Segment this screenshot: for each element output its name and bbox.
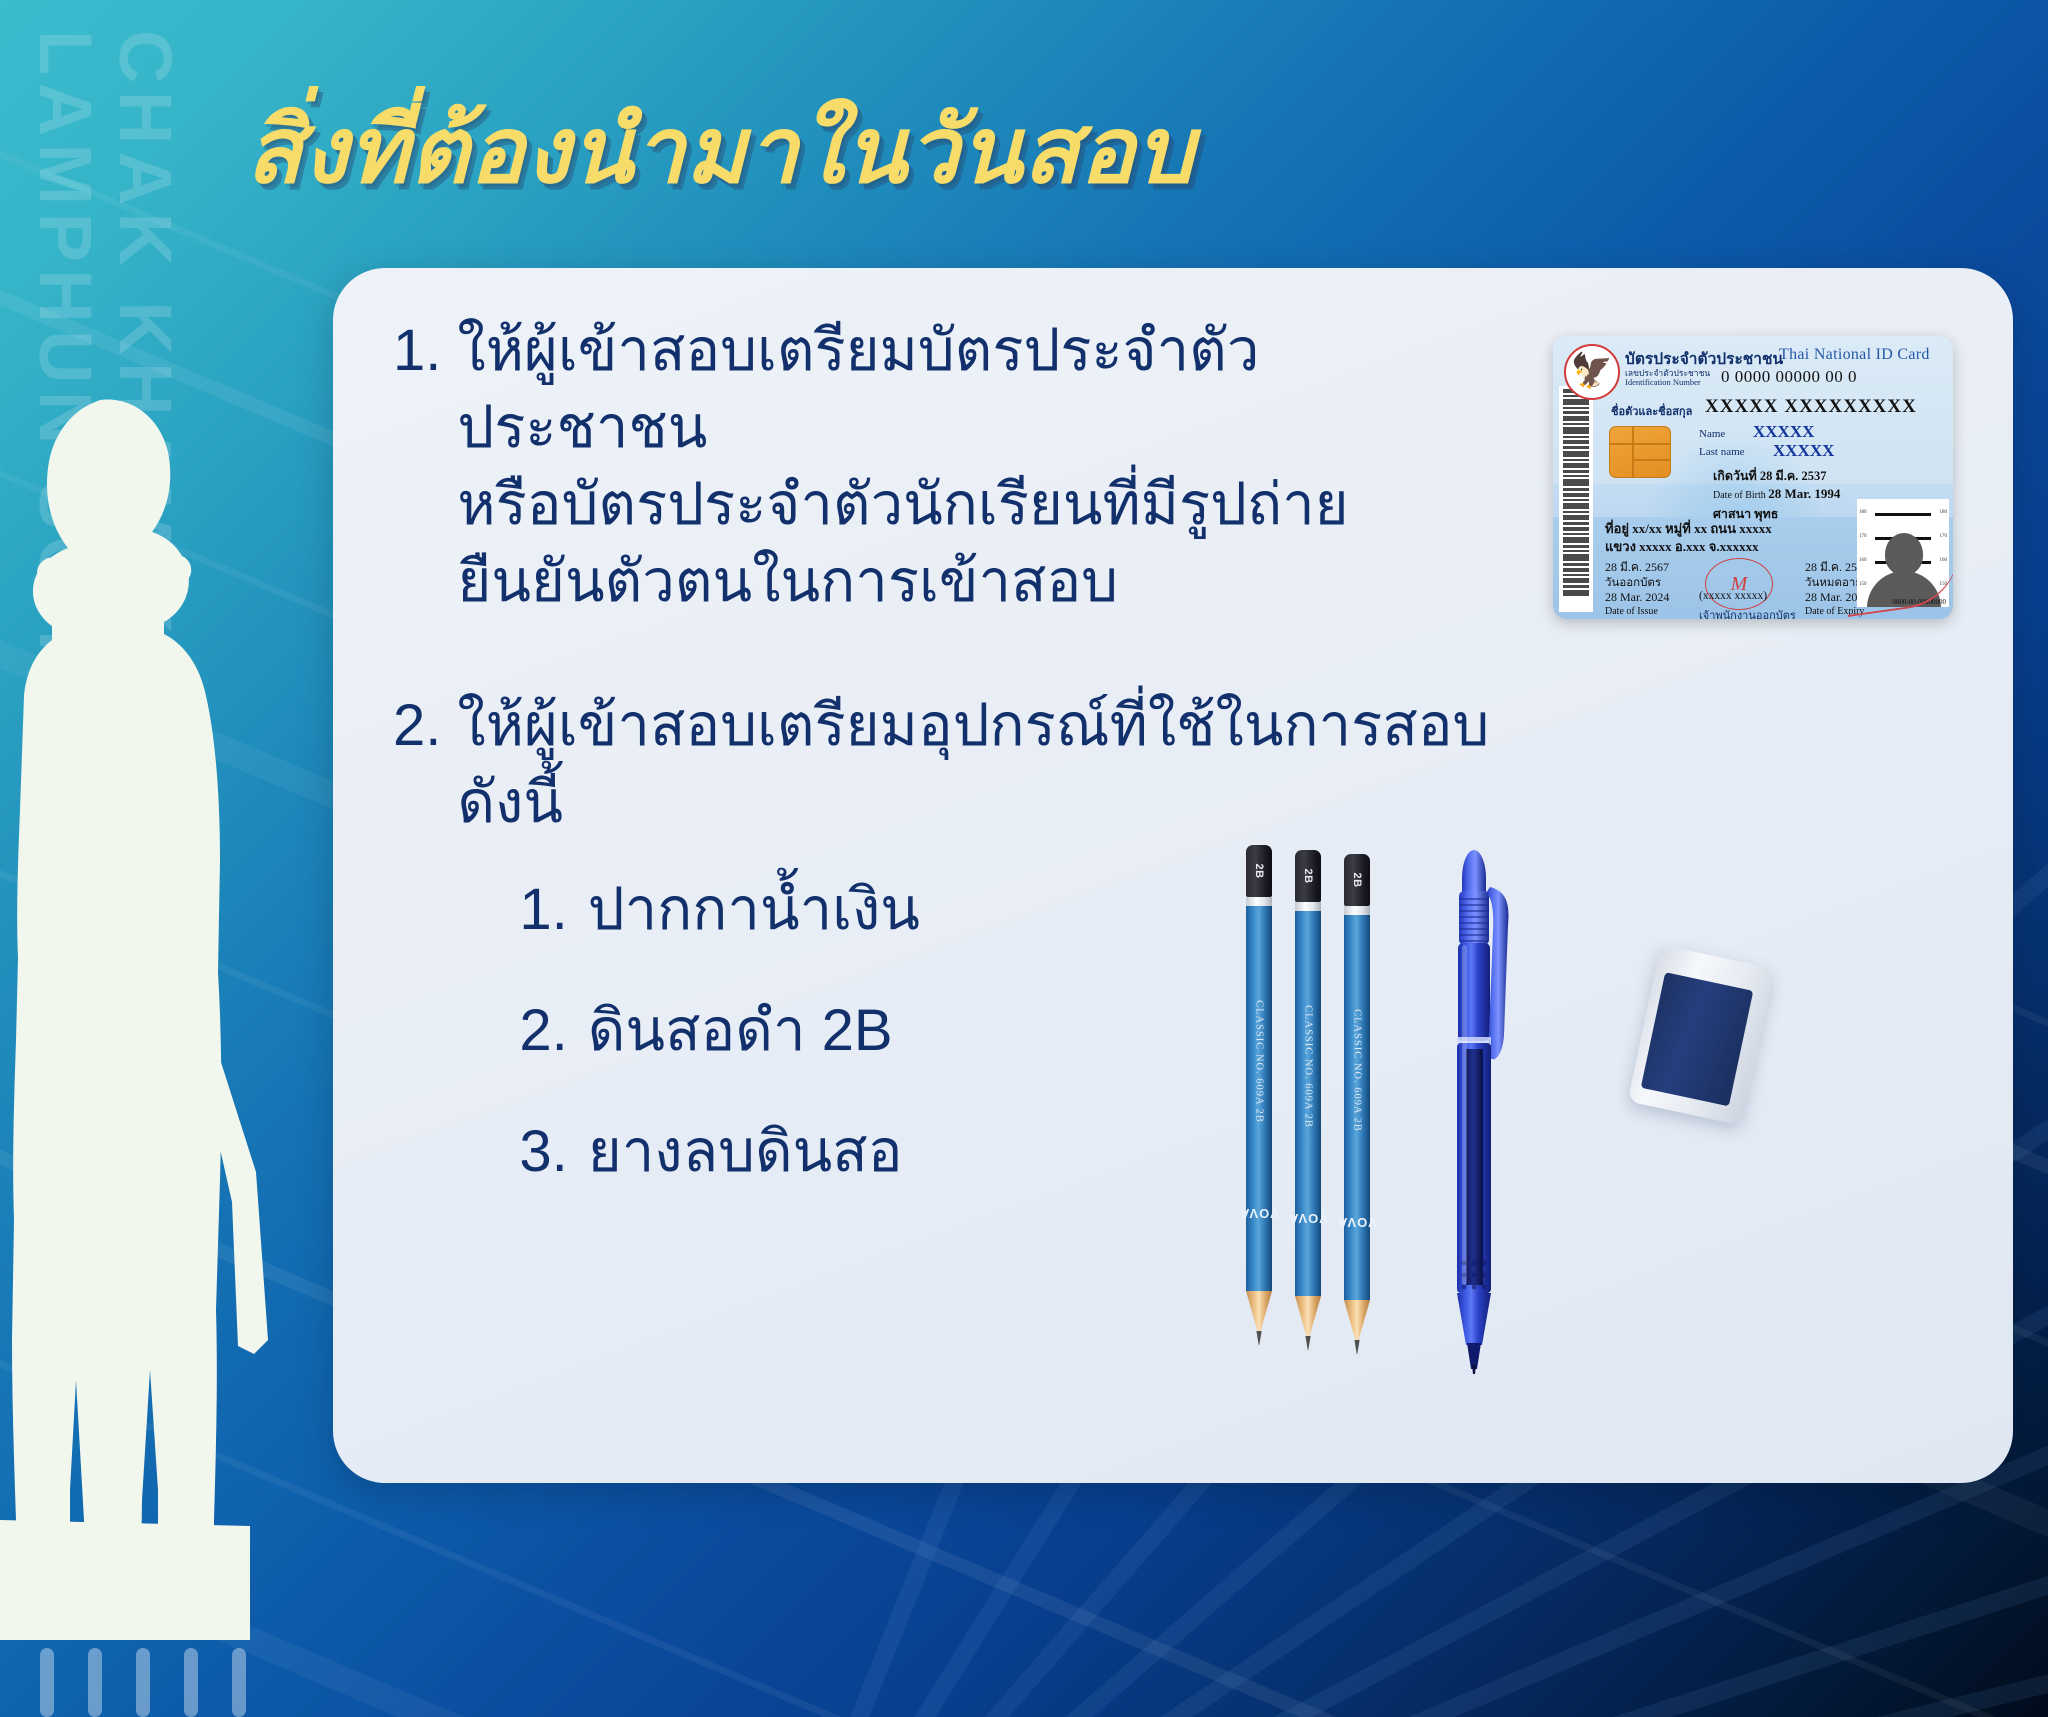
blue-ballpoint-pen: [1452, 845, 1518, 1375]
pencil-barrel-text: CLASSIC NO. 609A 2B: [1352, 1009, 1363, 1132]
pencil-barrel: CLASSIC NO. 609A 2B VOVA: [1246, 906, 1272, 1291]
officer-signature-label: เจ้าพนักงานออกบัตร: [1699, 606, 1796, 619]
sublist-item-number: 3.: [519, 1113, 567, 1190]
id-lastname-label-english: Last name: [1699, 446, 1745, 458]
pencil-cap-label: 2B: [1253, 863, 1265, 878]
pencil-barrel: CLASSIC NO. 609A 2B VOVA: [1295, 911, 1321, 1296]
id-address-line2: แขวง xxxxx อ.xxx จ.xxxxxx: [1605, 536, 1759, 557]
pencil-barrel: CLASSIC NO. 609A 2B VOVA: [1344, 915, 1370, 1300]
pencil-ferrule: [1246, 897, 1272, 906]
garuda-emblem-icon: 🦅: [1564, 344, 1620, 400]
id-name-label-english: Name: [1699, 428, 1725, 440]
spacer: [393, 621, 1493, 687]
statue-silhouette: [0, 340, 300, 1717]
sublist-item-label: ยางลบดินสอ: [588, 1113, 903, 1190]
id-dob-thai: เกิดวันที่ 28 มี.ค. 2537: [1713, 466, 1827, 486]
list-item-line: ให้ผู้เข้าสอบเตรียมอุปกรณ์ที่ใช้ในการสอบ…: [457, 687, 1493, 841]
sublist-item-number: 2.: [519, 992, 567, 1069]
sublist-item-number: 1.: [519, 871, 567, 948]
pencil-cap: 2B: [1295, 850, 1321, 902]
pencil-2b: 2B CLASSIC NO. 609A 2B VOVA: [1344, 854, 1370, 1354]
list-item-text: ให้ผู้เข้าสอบเตรียมบัตรประจำตัวประชาชน ห…: [457, 312, 1493, 621]
list-item-line: ให้ผู้เข้าสอบเตรียมบัตรประจำตัวประชาชน: [457, 312, 1493, 466]
photo-silhouette-head: [1885, 533, 1923, 575]
photo-scale-mark: 170: [1940, 534, 1948, 539]
photo-scale-mark: 150: [1859, 582, 1867, 587]
photo-scale-mark: 160: [1859, 558, 1867, 563]
pencil-barrel-text: CLASSIC NO. 609A 2B: [1254, 1000, 1265, 1123]
photo-scale-mark: 150: [1940, 582, 1948, 587]
pencil-tip: [1295, 1336, 1321, 1350]
page-title: สิ่งที่ต้องนำมาในวันสอบ: [246, 76, 1194, 223]
pencil-cap: 2B: [1344, 854, 1370, 906]
smart-chip-icon: [1609, 426, 1671, 478]
list-item-number: 2.: [393, 687, 441, 1235]
pencil-brand: VOVA: [1337, 1215, 1377, 1230]
id-dob-english-label: Date of Birth: [1713, 490, 1766, 501]
id-expiry-label-english: Date of Expiry: [1805, 606, 1864, 617]
thai-national-id-card: 🦅 บัตรประจำตัวประชาชน Thai National ID C…: [1553, 336, 1953, 619]
photo-scale-mark: 170: [1859, 534, 1867, 539]
slide-canvas: CHAK KHAM KHANATHON LAMPHUN SCHOOL: [0, 0, 2048, 1717]
list-item-line: ยืนยันตัวตนในการเข้าสอบ: [457, 543, 1493, 620]
id-lastname-value-english: XXXXX: [1773, 441, 1834, 461]
pencil-tip: [1246, 1331, 1272, 1345]
pencil-barrel-text: CLASSIC NO. 609A 2B: [1303, 1005, 1314, 1128]
pencil-ferrule: [1295, 902, 1321, 911]
id-number-label-english: Identification Number: [1625, 377, 1701, 387]
pencil-cap: 2B: [1246, 845, 1272, 897]
list-item: 2. ให้ผู้เข้าสอบเตรียมอุปกรณ์ที่ใช้ในการ…: [393, 687, 1493, 1235]
pencil-tip: [1344, 1340, 1370, 1354]
pencil-brand: VOVA: [1288, 1211, 1328, 1226]
equipment-sublist: 1. ปากกาน้ำเงิน 2. ดินสอดำ 2B 3. ยางลบดิ…: [457, 871, 1493, 1190]
photo-scale-mark: 160: [1940, 558, 1948, 563]
officer-signature-name: (xxxxx xxxxx): [1699, 590, 1767, 602]
photo-scale-mark: 180: [1859, 510, 1867, 515]
id-name-value-english: XXXXX: [1753, 422, 1814, 442]
photo-scale-mark: 180: [1940, 510, 1948, 515]
list-item: 1. ให้ผู้เข้าสอบเตรียมบัตรประจำตัวประชาช…: [393, 312, 1493, 621]
barcode: [1559, 386, 1593, 612]
id-dob-english: Date of Birth 28 Mar. 1994: [1713, 486, 1840, 502]
pencil-ferrule: [1344, 906, 1370, 915]
officer-signature-stamp: M: [1705, 558, 1773, 610]
id-issue-date-english: 28 Mar. 2024: [1605, 590, 1669, 605]
pencil-wood: [1344, 1300, 1370, 1342]
id-issue-label-english: Date of Issue: [1605, 606, 1658, 617]
list-item-line: หรือบัตรประจำตัวนักเรียนที่มีรูปถ่าย: [457, 466, 1493, 543]
sublist-item-label: ปากกาน้ำเงิน: [588, 871, 920, 948]
pencil-wood: [1295, 1296, 1321, 1338]
id-title-english: Thai National ID Card: [1779, 346, 1930, 364]
id-name-value-thai: XXXXX XXXXXXXXX: [1705, 396, 1917, 418]
id-name-label-thai: ชื่อตัวและชื่อสกุล: [1611, 402, 1692, 420]
pencil-wood: [1246, 1291, 1272, 1333]
pencil-2b: 2B CLASSIC NO. 609A 2B VOVA: [1246, 845, 1272, 1345]
id-number-value: 0 0000 00000 00 0: [1721, 367, 1857, 387]
pencil-2b: 2B CLASSIC NO. 609A 2B VOVA: [1295, 850, 1321, 1350]
list-item-number: 1.: [393, 312, 441, 621]
photo-serial-number: 0000-00-00000000: [1892, 598, 1946, 606]
list-item-text: ให้ผู้เข้าสอบเตรียมอุปกรณ์ที่ใช้ในการสอบ…: [457, 687, 1493, 1235]
pencil-cap-label: 2B: [1351, 872, 1363, 887]
id-dob-english-value: 28 Mar. 1994: [1768, 486, 1840, 501]
sublist-item-label: ดินสอดำ 2B: [588, 992, 893, 1069]
pencil-cap-label: 2B: [1302, 868, 1314, 883]
pencil-brand: VOVA: [1239, 1206, 1279, 1221]
instructions-list: 1. ให้ผู้เข้าสอบเตรียมบัตรประจำตัวประชาช…: [393, 312, 1493, 1234]
id-photo: 180 180 170 170 160 160 150 150 0000-00-…: [1857, 499, 1949, 607]
